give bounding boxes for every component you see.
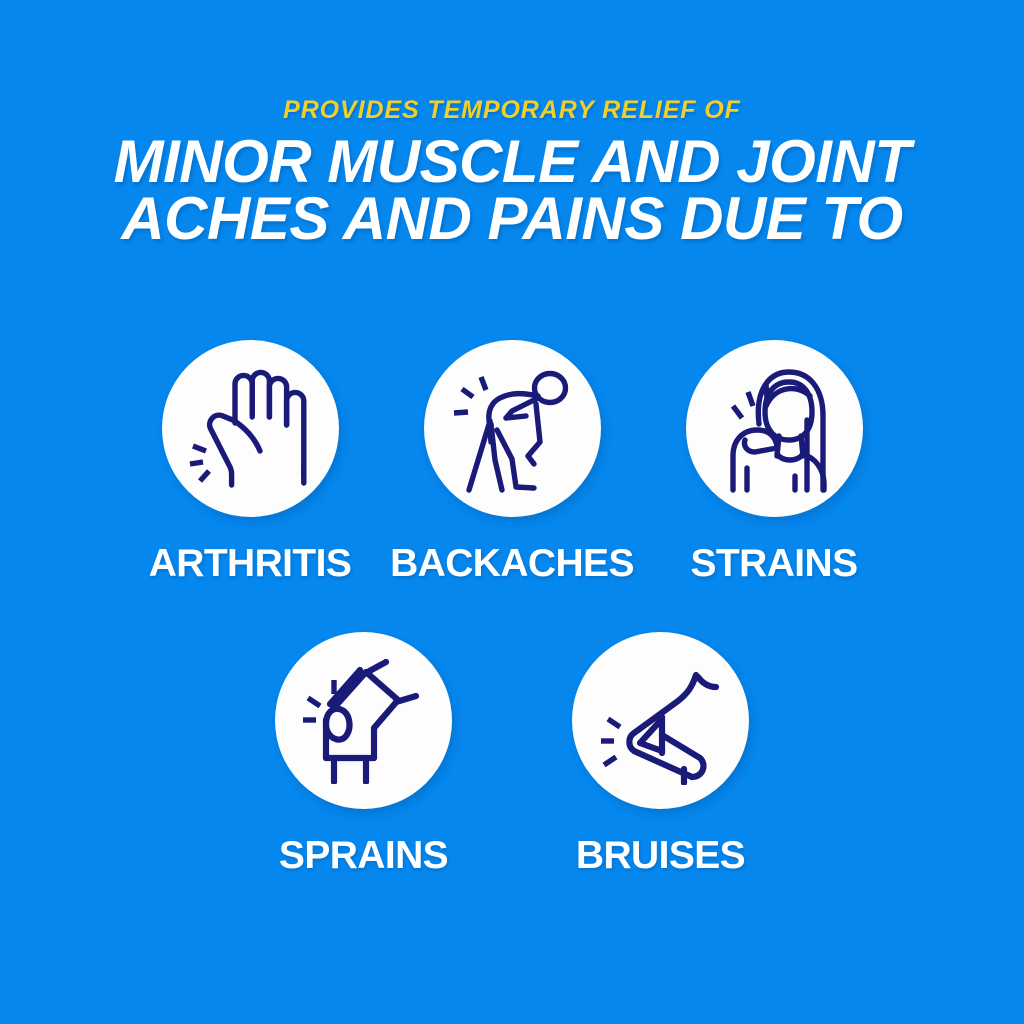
eyebrow-text: PROVIDES TEMPORARY RELIEF OF bbox=[40, 96, 984, 126]
condition-label-bruises: BRUISES bbox=[576, 836, 745, 875]
condition-item-backaches: BACKACHES bbox=[415, 340, 609, 583]
condition-item-strains: STRAINS bbox=[677, 340, 871, 583]
icon-bubble-bruises bbox=[572, 632, 749, 809]
condition-item-arthritis: ARTHRITIS bbox=[153, 340, 347, 583]
bent-arm-elbow-pain-icon bbox=[600, 657, 722, 785]
condition-label-sprains: SPRAINS bbox=[279, 836, 448, 875]
bent-person-back-pain-icon bbox=[450, 364, 574, 494]
hand-pain-icon bbox=[189, 365, 311, 493]
pain-lines-arthritis bbox=[190, 446, 209, 481]
conditions-row-2: SPRAINS bbox=[0, 632, 1024, 875]
woman-neck-shoulder-pain-icon bbox=[711, 364, 837, 494]
conditions-grid: ARTHRITIS bbox=[0, 340, 1024, 875]
icon-bubble-backaches bbox=[424, 340, 601, 517]
icon-bubble-sprains bbox=[275, 632, 452, 809]
icon-bubble-strains bbox=[686, 340, 863, 517]
condition-item-sprains: SPRAINS bbox=[267, 632, 461, 875]
icon-bubble-arthritis bbox=[162, 340, 339, 517]
pain-lines-bruises bbox=[601, 719, 620, 765]
condition-item-bruises: BRUISES bbox=[564, 632, 758, 875]
headline-line-1: MINOR MUSCLE AND JOINT bbox=[40, 133, 984, 190]
pain-lines-backaches bbox=[454, 377, 486, 413]
headline-block: PROVIDES TEMPORARY RELIEF OF MINOR MUSCL… bbox=[0, 96, 1024, 247]
bandaged-knee-icon bbox=[302, 658, 426, 784]
condition-label-arthritis: ARTHRITIS bbox=[149, 544, 352, 583]
promo-poster: PROVIDES TEMPORARY RELIEF OF MINOR MUSCL… bbox=[0, 0, 1024, 1024]
condition-label-strains: STRAINS bbox=[691, 544, 858, 583]
headline-line-2: ACHES AND PAINS DUE TO bbox=[40, 190, 984, 247]
conditions-row-1: ARTHRITIS bbox=[0, 340, 1024, 583]
page-title: MINOR MUSCLE AND JOINT ACHES AND PAINS D… bbox=[40, 133, 984, 247]
condition-label-backaches: BACKACHES bbox=[390, 544, 634, 583]
